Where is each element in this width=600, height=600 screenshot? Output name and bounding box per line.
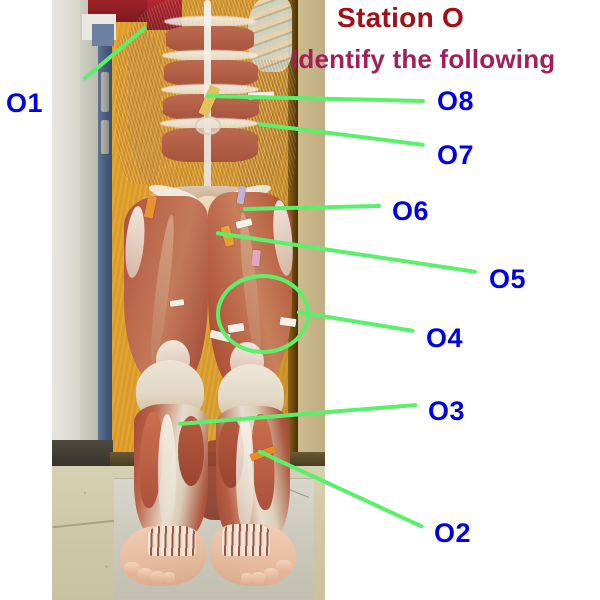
label-o7: O7 — [437, 142, 474, 169]
model-toe-left-4 — [163, 572, 175, 583]
model-tibia-right — [236, 416, 254, 532]
photo-top-blue-object — [92, 24, 114, 46]
label-o3: O3 — [428, 398, 465, 425]
model-umbilicus — [195, 116, 221, 135]
model-toe-left-2 — [138, 568, 152, 581]
page-title: Station O — [337, 2, 464, 34]
label-o1: O1 — [6, 90, 43, 117]
model-extensor-tendons-right — [222, 524, 270, 556]
model-toe-right-3 — [252, 572, 265, 584]
circle-highlight-icon — [216, 274, 310, 354]
page-subtitle: Identify the following — [291, 44, 555, 75]
model-external-oblique-left — [116, 34, 162, 184]
model-tibia-left — [158, 414, 176, 532]
label-o5: O5 — [489, 266, 526, 293]
photo-door-hinge-lower — [101, 120, 109, 154]
model-toe-right-4 — [241, 573, 253, 584]
photo-door-hinge-upper — [101, 72, 109, 112]
photo-door-frame — [98, 0, 113, 455]
model-rectus-abdominis-2 — [164, 60, 258, 86]
label-o8: O8 — [437, 88, 474, 115]
screenshot-root: O1O8O7O6O5O4O3O2 Station O Identify the … — [0, 0, 600, 600]
model-tag-pink-pelvis — [251, 250, 261, 267]
model-extensor-tendons-left — [148, 526, 196, 556]
model-toe-right-2 — [264, 568, 278, 581]
label-o6: O6 — [392, 198, 429, 225]
model-gastrocnemius-left — [178, 416, 204, 486]
label-o4: O4 — [426, 325, 463, 352]
model-toe-right-1 — [276, 560, 292, 574]
label-o2: O2 — [434, 520, 471, 547]
